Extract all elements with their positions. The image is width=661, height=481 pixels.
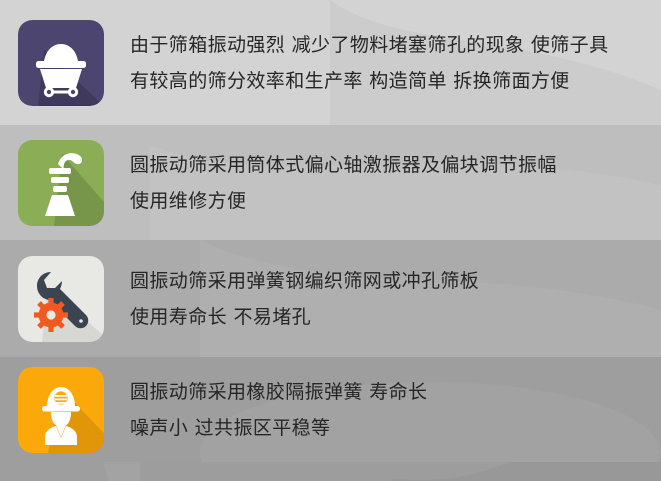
feature-text: 由于筛箱振动强烈 减少了物料堵塞筛孔的现象 使筛子具 有较高的筛分效率和生产率 … — [130, 27, 661, 99]
feature-line: 圆振动筛采用弹簧钢编织筛网或冲孔筛板 — [130, 263, 649, 299]
feature-list: 由于筛箱振动强烈 减少了物料堵塞筛孔的现象 使筛子具 有较高的筛分效率和生产率 … — [0, 0, 661, 481]
factory-smokestack-icon[interactable] — [18, 140, 104, 226]
feature-line: 圆振动筛采用橡胶隔振弹簧 寿命长 — [130, 374, 649, 410]
feature-line: 由于筛箱振动强烈 减少了物料堵塞筛孔的现象 使筛子具 — [130, 27, 649, 63]
feature-row[interactable]: 圆振动筛采用筒体式偏心轴激振器及偏块调节振幅 使用维修方便 — [0, 125, 661, 240]
factory-smokestack-icon-glyph — [18, 140, 104, 226]
wrench-gear-icon[interactable] — [18, 256, 104, 342]
feature-row[interactable]: 圆振动筛采用弹簧钢编织筛网或冲孔筛板 使用寿命长 不易堵孔 — [0, 240, 661, 357]
feature-line: 有较高的筛分效率和生产率 构造简单 拆换筛面方便 — [130, 63, 649, 99]
feature-line: 使用维修方便 — [130, 183, 649, 219]
feature-row[interactable]: 由于筛箱振动强烈 减少了物料堵塞筛孔的现象 使筛子具 有较高的筛分效率和生产率 … — [0, 0, 661, 125]
feature-text: 圆振动筛采用橡胶隔振弹簧 寿命长 噪声小 过共振区平稳等 — [130, 374, 661, 446]
feature-line: 使用寿命长 不易堵孔 — [130, 299, 649, 335]
wrench-gear-icon-glyph — [18, 256, 104, 342]
feature-text: 圆振动筛采用筒体式偏心轴激振器及偏块调节振幅 使用维修方便 — [130, 147, 661, 219]
feature-text: 圆振动筛采用弹簧钢编织筛网或冲孔筛板 使用寿命长 不易堵孔 — [130, 263, 661, 335]
feature-line: 圆振动筛采用筒体式偏心轴激振器及偏块调节振幅 — [130, 147, 649, 183]
hard-hat-worker-icon[interactable] — [18, 367, 104, 453]
hard-hat-worker-icon-glyph — [18, 367, 104, 453]
feature-line: 噪声小 过共振区平稳等 — [130, 410, 649, 446]
ore-cart-icon[interactable] — [18, 20, 104, 106]
ore-cart-icon-glyph — [18, 20, 104, 106]
feature-row[interactable]: 圆振动筛采用橡胶隔振弹簧 寿命长 噪声小 过共振区平稳等 — [0, 357, 661, 462]
